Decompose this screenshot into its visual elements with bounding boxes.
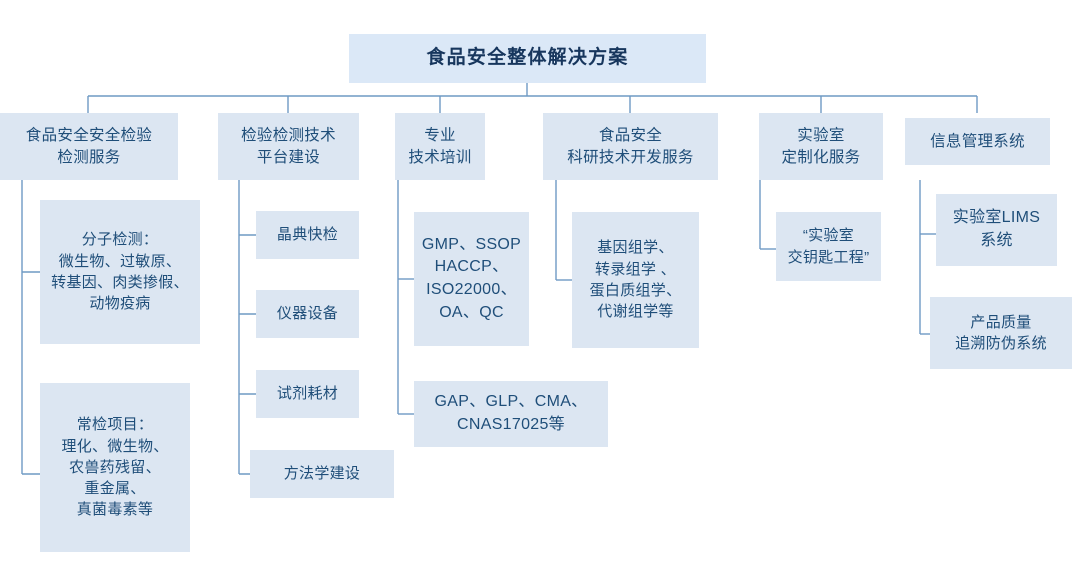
leaf-node-2-3[interactable]: 试剂耗材: [256, 370, 359, 418]
leaf-node-3-1[interactable]: GMP、SSOP HACCP、 ISO22000、 OA、QC: [414, 212, 529, 346]
leaf-node-1-2[interactable]: 常检项目： 理化、微生物、 农兽药残留、 重金属、 真菌毒素等: [40, 383, 190, 552]
leaf-node-3-2[interactable]: GAP、GLP、CMA、 CNAS17025等: [414, 381, 608, 447]
org-chart-canvas: 食品安全整体解决方案 食品安全安全检验 检测服务 检验检测技术 平台建设 专业 …: [0, 0, 1080, 565]
branch-node-5[interactable]: 实验室 定制化服务: [759, 113, 883, 180]
branch-node-4[interactable]: 食品安全 科研技术开发服务: [543, 113, 718, 180]
leaf-node-6-1[interactable]: 实验室LIMS 系统: [936, 194, 1057, 266]
branch-node-3[interactable]: 专业 技术培训: [395, 113, 485, 180]
leaf-node-4-1[interactable]: 基因组学、 转录组学 、 蛋白质组学、 代谢组学等: [572, 212, 699, 348]
leaf-node-5-1[interactable]: “实验室 交钥匙工程”: [776, 212, 881, 281]
leaf-node-2-4[interactable]: 方法学建设: [250, 450, 394, 498]
root-node[interactable]: 食品安全整体解决方案: [349, 34, 706, 83]
leaf-node-2-2[interactable]: 仪器设备: [256, 290, 359, 338]
leaf-node-1-1[interactable]: 分子检测： 微生物、过敏原、 转基因、肉类掺假、 动物疫病: [40, 200, 200, 344]
branch-node-6[interactable]: 信息管理系统: [905, 118, 1050, 165]
branch-node-1[interactable]: 食品安全安全检验 检测服务: [0, 113, 178, 180]
leaf-node-2-1[interactable]: 晶典快检: [256, 211, 359, 259]
branch-node-2[interactable]: 检验检测技术 平台建设: [218, 113, 359, 180]
leaf-node-6-2[interactable]: 产品质量 追溯防伪系统: [930, 297, 1072, 369]
